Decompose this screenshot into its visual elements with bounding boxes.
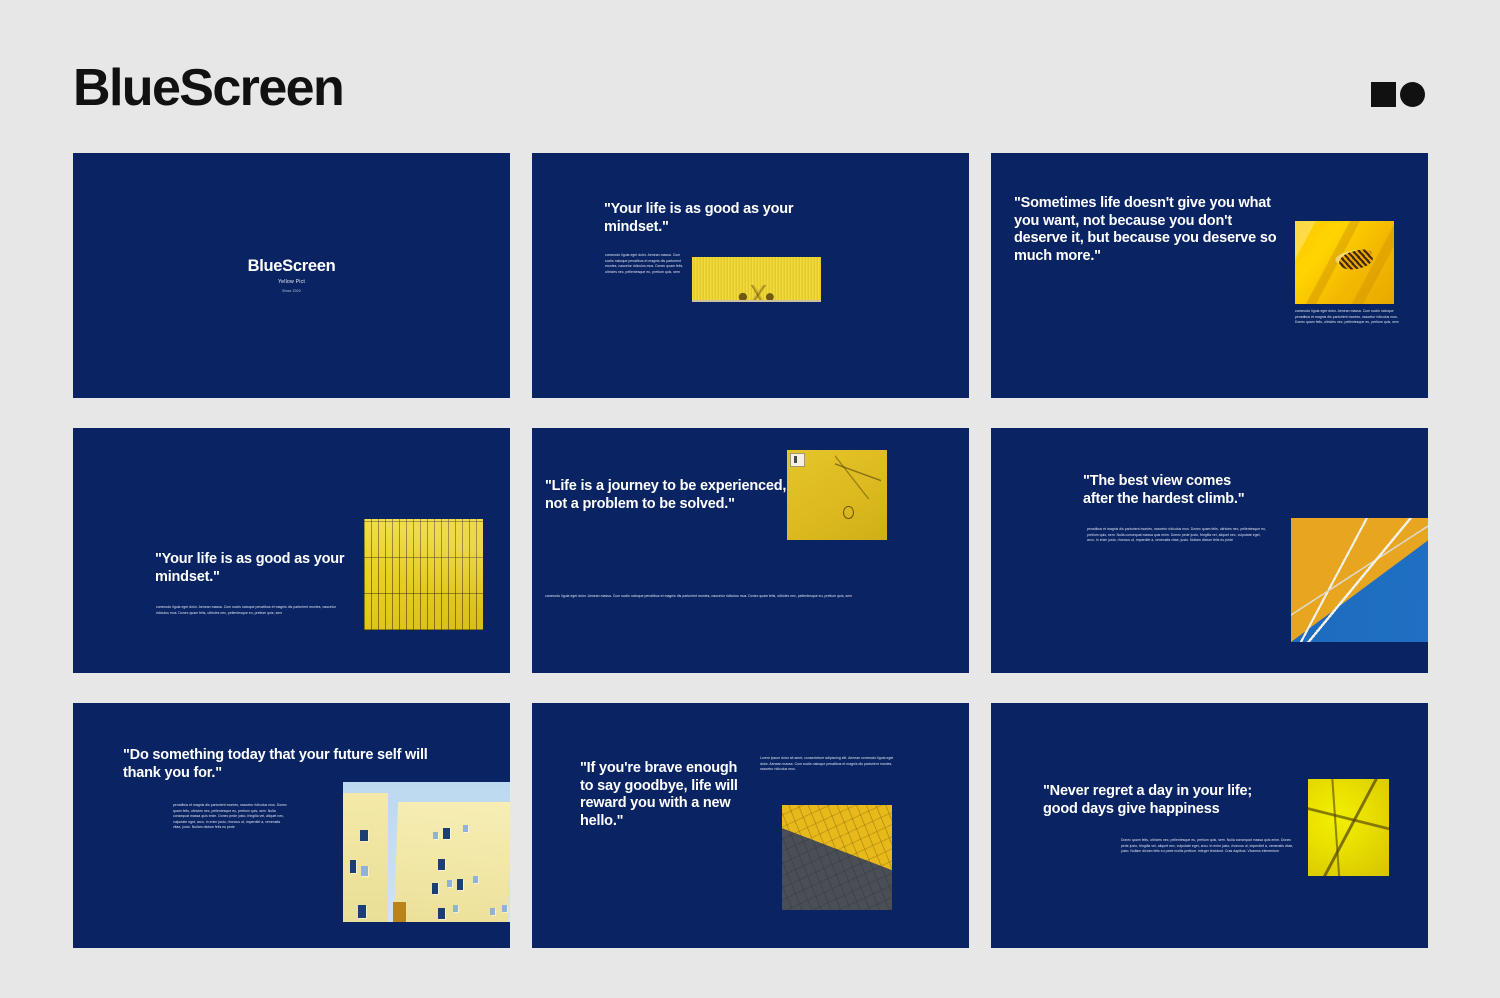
slide-quote: "Life is a journey to be experienced, no… xyxy=(545,478,807,513)
slide-quote: "Do something today that your future sel… xyxy=(123,747,453,782)
slide-image-yellow-apartment-building xyxy=(343,782,510,922)
slide-subtitle: Yellow Pict xyxy=(73,279,510,285)
slide-quote: "Your life is as good as your mindset." xyxy=(604,201,834,236)
page-header: BlueScreen xyxy=(0,0,1500,153)
slide-4-quote[interactable]: "Your life is as good as your mindset." … xyxy=(73,428,510,673)
logo-mark xyxy=(1371,82,1425,107)
slide-caption: Donec quam felis, ultricies nec, pellent… xyxy=(1121,838,1296,855)
slide-5-quote[interactable]: "Life is a journey to be experienced, no… xyxy=(532,428,969,673)
slide-image-yellow-grid-paper xyxy=(364,519,483,630)
slides-grid: BlueScreen Yellow Pict Since 2020 "Your … xyxy=(73,153,1427,948)
slide-title: BlueScreen xyxy=(73,257,510,276)
slide-subtitle-secondary: Since 2020 xyxy=(73,289,510,293)
slide-image-bee-on-yellow-flower xyxy=(1295,221,1394,304)
slide-6-quote[interactable]: "The best view comes after the hardest c… xyxy=(991,428,1428,673)
slide-1-cover[interactable]: BlueScreen Yellow Pict Since 2020 xyxy=(73,153,510,398)
slide-caption: penatibus et magnis dis parturient monte… xyxy=(173,803,288,831)
slide-image-yellow-grey-cobblestone xyxy=(782,805,892,910)
slide-7-quote[interactable]: "Do something today that your future sel… xyxy=(73,703,510,948)
page-title: BlueScreen xyxy=(73,62,343,114)
slide-caption: penatibus et magnis dis parturient monte… xyxy=(1087,527,1269,544)
slide-image-yellow-cell-macro xyxy=(1308,779,1389,876)
slide-8-quote[interactable]: "If you're brave enough to say goodbye, … xyxy=(532,703,969,948)
slide-quote: "Never regret a day in your life; good d… xyxy=(1043,783,1255,818)
slide-image-orange-blue-sports-court xyxy=(1291,518,1428,642)
circle-icon xyxy=(1400,82,1425,107)
presentation-template-page: BlueScreen BlueScreen Yellow Pict Since … xyxy=(0,0,1500,998)
slide-quote: "Your life is as good as your mindset." xyxy=(155,551,355,586)
slide-caption: Lorem ipsum dolor sit amet, consectetuer… xyxy=(760,756,900,773)
slide-9-quote[interactable]: "Never regret a day in your life; good d… xyxy=(991,703,1428,948)
slide-caption: commodo ligula eget dolor. Aenean massa.… xyxy=(545,594,865,600)
slide-quote: "If you're brave enough to say goodbye, … xyxy=(580,760,740,831)
slide-2-quote[interactable]: "Your life is as good as your mindset." … xyxy=(532,153,969,398)
slide-caption: commodo ligula eget dolor. Aenean massa.… xyxy=(1295,309,1405,326)
slide-quote: "The best view comes after the hardest c… xyxy=(1083,473,1263,508)
slide-3-quote[interactable]: "Sometimes life doesn't give you what yo… xyxy=(991,153,1428,398)
slide-image-yellow-corrugated-wall-with-bicycles xyxy=(692,257,821,302)
slide-caption: commodo ligula eget dolor. Aenean massa.… xyxy=(156,605,346,616)
slide-caption: commodo ligula eget dolor. Aenean massa.… xyxy=(605,253,687,275)
slide-quote: "Sometimes life doesn't give you what yo… xyxy=(1014,195,1286,266)
square-icon xyxy=(1371,82,1396,107)
